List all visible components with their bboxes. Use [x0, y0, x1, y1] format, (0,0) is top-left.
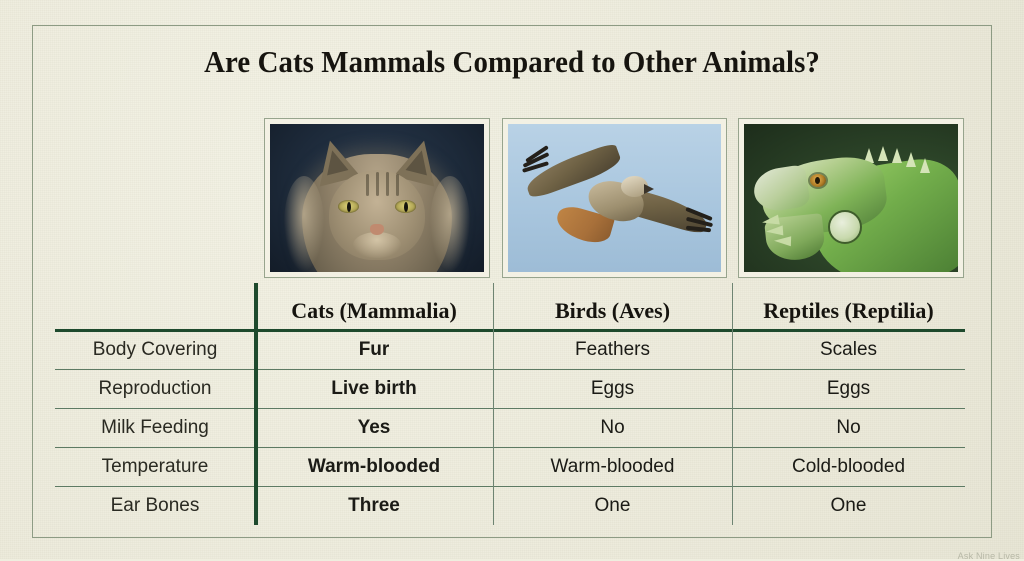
watermark: Ask Nine Lives: [958, 551, 1020, 561]
table-header-birds: Birds (Aves): [493, 283, 732, 330]
row-divider: [55, 408, 965, 409]
table-row: Body Covering Fur Feathers Scales: [55, 330, 965, 369]
cat-ruff-left: [284, 176, 324, 271]
cell-birds: No: [493, 408, 732, 447]
reptile-photo: [738, 118, 964, 278]
cell-birds: Feathers: [493, 330, 732, 369]
table-header-rule: [55, 329, 965, 332]
table-header-trait: [55, 283, 255, 330]
row-divider: [55, 486, 965, 487]
cat-pupil-right: [404, 202, 408, 212]
iguana-dorsal-spine: [920, 158, 930, 173]
cell-reptiles: Cold-blooded: [732, 447, 965, 486]
cat-pupil-left: [347, 202, 351, 212]
cell-reptiles: No: [732, 408, 965, 447]
comparison-table: Cats (Mammalia) Birds (Aves) Reptiles (R…: [55, 283, 965, 525]
cat-nose: [370, 224, 384, 235]
table-header-cats: Cats (Mammalia): [255, 283, 493, 330]
cat-muzzle: [353, 232, 401, 258]
cell-cats: Warm-blooded: [255, 447, 493, 486]
cell-cats: Fur: [255, 330, 493, 369]
iguana-dewlap-spike: [774, 236, 791, 247]
hawk-beak: [644, 184, 654, 194]
cat-eye-right: [395, 200, 416, 213]
bird-photo: [502, 118, 727, 278]
cell-cats: Yes: [255, 408, 493, 447]
cats-birds-divider: [493, 283, 494, 525]
cell-reptiles: One: [732, 486, 965, 525]
table-header-reptiles: Reptiles (Reptilia): [732, 283, 965, 330]
cat-photo-image: [270, 124, 484, 272]
iguana-dorsal-spine: [892, 148, 902, 163]
page-title: Are Cats Mammals Compared to Other Anima…: [36, 44, 988, 80]
cell-birds: Eggs: [493, 369, 732, 408]
iguana-dorsal-spine: [906, 152, 916, 167]
cat-ruff-right: [430, 176, 470, 271]
cell-reptiles: Scales: [732, 330, 965, 369]
cell-cats: Three: [255, 486, 493, 525]
cat-forehead-stripe: [396, 174, 399, 196]
table-row: Reproduction Live birth Eggs Eggs: [55, 369, 965, 408]
bird-photo-image: [508, 124, 721, 272]
cat-photo: [264, 118, 490, 278]
cat-forehead-stripe: [386, 172, 389, 196]
cell-birds: One: [493, 486, 732, 525]
row-label: Body Covering: [55, 330, 255, 369]
table-row: Milk Feeding Yes No No: [55, 408, 965, 447]
row-label: Ear Bones: [55, 486, 255, 525]
cat-forehead-stripe: [376, 172, 379, 196]
row-label: Reproduction: [55, 369, 255, 408]
iguana-tympanum: [828, 210, 862, 244]
cell-birds: Warm-blooded: [493, 447, 732, 486]
cat-eye-left: [338, 200, 359, 213]
table-header-row: Cats (Mammalia) Birds (Aves) Reptiles (R…: [55, 283, 965, 330]
reptile-photo-image: [744, 124, 958, 272]
table-row: Ear Bones Three One One: [55, 486, 965, 525]
row-label: Milk Feeding: [55, 408, 255, 447]
table-row: Temperature Warm-blooded Warm-blooded Co…: [55, 447, 965, 486]
row-label: Temperature: [55, 447, 255, 486]
trait-column-divider: [254, 283, 258, 525]
row-divider: [55, 369, 965, 370]
iguana-dorsal-spine: [878, 146, 888, 161]
cell-cats: Live birth: [255, 369, 493, 408]
cat-forehead-stripe: [366, 174, 369, 196]
birds-reptiles-divider: [732, 283, 733, 525]
cell-reptiles: Eggs: [732, 369, 965, 408]
row-divider: [55, 447, 965, 448]
iguana-eye: [810, 174, 826, 187]
